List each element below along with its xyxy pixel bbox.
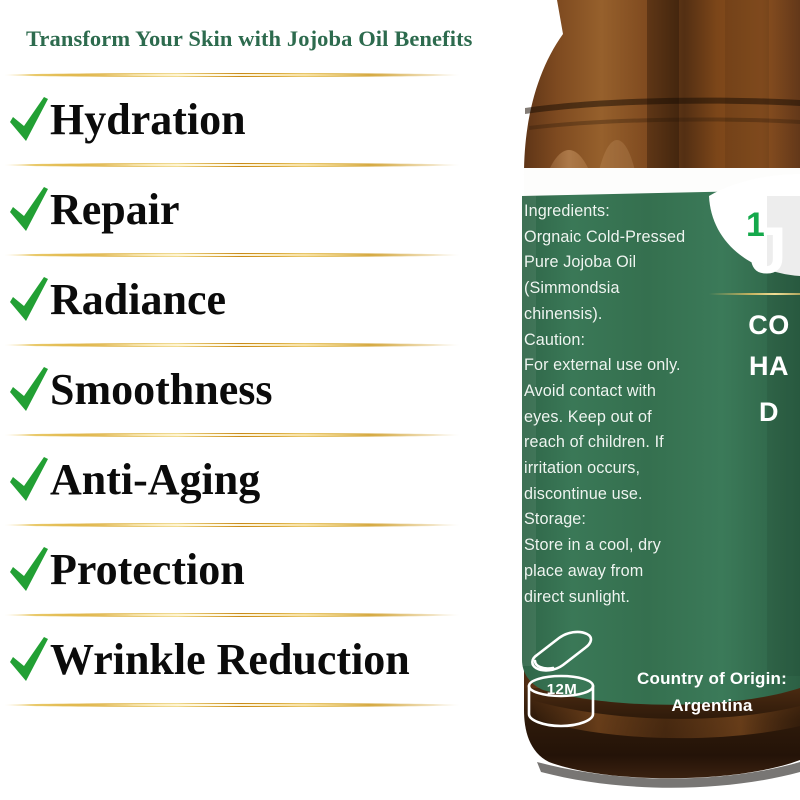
- gold-divider: [0, 518, 500, 532]
- benefit-label: Smoothness: [50, 368, 273, 412]
- brand-subline-2: HA: [709, 343, 800, 389]
- benefits-list: Hydration Repair Radiance Smoothness: [0, 68, 500, 712]
- pao-months-text: 12M: [538, 681, 586, 698]
- check-icon: [6, 363, 52, 417]
- benefit-label: Repair: [50, 188, 180, 232]
- page-title: Transform Your Skin with Jojoba Oil Bene…: [26, 26, 566, 52]
- list-item: Hydration: [0, 82, 500, 158]
- check-icon: [6, 633, 52, 687]
- brand-name: J: [709, 215, 800, 285]
- gold-divider: [0, 338, 500, 352]
- brand-subline-3: D: [709, 389, 800, 435]
- list-item: Radiance: [0, 262, 500, 338]
- check-icon: [6, 453, 52, 507]
- brand-gold-sparkle-divider: [709, 287, 800, 301]
- gold-divider: [0, 698, 500, 712]
- list-item: Protection: [0, 532, 500, 608]
- check-icon: [6, 183, 52, 237]
- check-icon: [6, 543, 52, 597]
- jojoba-oil-bottle: Ingredients: Orgnaic Cold-Pressed Pure J…: [497, 0, 800, 800]
- gold-divider: [0, 68, 500, 82]
- gold-divider: [0, 428, 500, 442]
- list-item: Smoothness: [0, 352, 500, 428]
- list-item: Anti-Aging: [0, 442, 500, 518]
- benefit-label: Hydration: [50, 98, 246, 142]
- brand-subline-1: CO: [709, 307, 800, 343]
- brand-block: J CO HA D: [709, 215, 800, 435]
- country-of-origin-block: Country of Origin: Argentina: [607, 665, 800, 719]
- benefit-label: Wrinkle Reduction: [50, 638, 410, 682]
- check-icon: [6, 273, 52, 327]
- benefit-label: Anti-Aging: [50, 458, 260, 502]
- benefit-label: Radiance: [50, 278, 226, 322]
- label-ingredients-text: Ingredients: Orgnaic Cold-Pressed Pure J…: [524, 199, 702, 610]
- country-of-origin-value: Argentina: [607, 692, 800, 719]
- list-item: Repair: [0, 172, 500, 248]
- gold-divider: [0, 158, 500, 172]
- product-benefits-graphic: Ingredients: Orgnaic Cold-Pressed Pure J…: [0, 0, 800, 800]
- check-icon: [6, 93, 52, 147]
- gold-divider: [0, 248, 500, 262]
- list-item: Wrinkle Reduction: [0, 622, 500, 698]
- gold-divider: [0, 608, 500, 622]
- benefit-label: Protection: [50, 548, 245, 592]
- country-of-origin-label: Country of Origin:: [607, 665, 800, 692]
